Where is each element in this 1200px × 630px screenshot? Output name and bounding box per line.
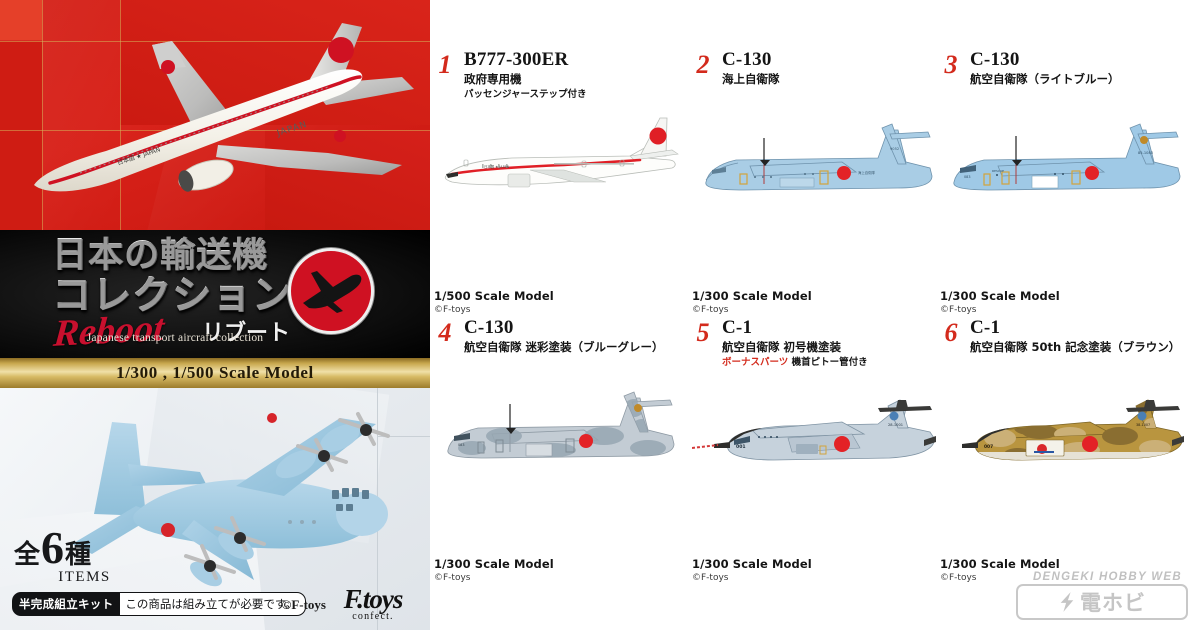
kit-note-label: この商品は組み立てが必要です。 bbox=[120, 592, 305, 616]
item-scale-label: 1/300 Scale Model bbox=[692, 289, 812, 303]
svg-text:083: 083 bbox=[458, 443, 464, 447]
c130-camo-side-view-icon: 083 bbox=[434, 378, 686, 503]
item-header-text: C-1 航空自衛隊 50th 記念塗装（ブラウン） bbox=[970, 318, 1192, 357]
item-model-subtitle: 政府専用機 bbox=[464, 72, 686, 86]
svg-text:9052: 9052 bbox=[890, 147, 899, 151]
svg-text:007: 007 bbox=[984, 444, 993, 450]
lineup-grid: 1 B777-300ER 政府専用機 パッセンジャーステップ付き bbox=[430, 0, 1200, 630]
item-artwork-c1-50th-brown: 007 38-1007 bbox=[940, 378, 1192, 503]
svg-text:083: 083 bbox=[964, 175, 970, 179]
item-model-subtitle: 航空自衛隊（ライトブルー） bbox=[970, 72, 1192, 86]
bottom-photo-c130: 全 6 種 ITEMS 半完成組立キット この商品は組み立てが必要です。 ©F-… bbox=[0, 388, 430, 630]
lineup-item-header: 4 C-130 航空自衛隊 迷彩塗装（ブルーグレー） bbox=[434, 318, 686, 374]
item-scale-label: 1/300 Scale Model bbox=[434, 557, 554, 571]
lineup-item-4[interactable]: 4 C-130 航空自衛隊 迷彩塗装（ブルーグレー） bbox=[434, 318, 686, 583]
ftoys-logo: F.toys confect. bbox=[332, 587, 414, 622]
lineup-item-3[interactable]: 3 C-130 航空自衛隊（ライトブルー） bbox=[940, 50, 1192, 315]
ftoys-copyright: ©F-toys bbox=[282, 597, 326, 613]
item-footer: 1/500 Scale Model ©F-toys bbox=[434, 289, 554, 315]
item-scale-label: 1/500 Scale Model bbox=[434, 289, 554, 303]
item-header-text: C-130 海上自衛隊 bbox=[722, 50, 944, 89]
c130-side-view-icon: 海上自衛隊 9052 bbox=[692, 110, 944, 235]
item-model-note: パッセンジャーステップ付き bbox=[464, 89, 686, 100]
item-artwork-c130-jasdf-lightblue: 083 RESCUE 85-1083 bbox=[940, 110, 1192, 235]
b777-model-photo: 日本国 ★ JAPAN JAPAN bbox=[10, 5, 430, 225]
lineup-item-header: 2 C-130 海上自衛隊 bbox=[692, 50, 944, 106]
item-number: 2 bbox=[692, 52, 714, 78]
item-footer: 1/300 Scale Model ©F-toys bbox=[434, 557, 554, 583]
item-copyright: ©F-toys bbox=[692, 573, 812, 583]
poster-root: 日本国 ★ JAPAN JAPAN 日本の輸送機 コレクション Reboot リ… bbox=[0, 0, 1200, 630]
item-model-subtitle: 航空自衛隊 50th 記念塗装（ブラウン） bbox=[970, 340, 1192, 354]
kit-tag-label: 半完成組立キット bbox=[12, 592, 120, 616]
scale-band: 1/300 , 1/500 Scale Model bbox=[0, 358, 430, 388]
item-copyright: ©F-toys bbox=[940, 305, 1060, 315]
lineup-item-5[interactable]: 5 C-1 航空自衛隊 初号機塗装 ボーナスパーツ 機首ピトー管付き bbox=[692, 318, 944, 583]
item-number: 6 bbox=[940, 320, 962, 346]
lightning-bolt-icon bbox=[1058, 591, 1076, 613]
item-model-name: C-130 bbox=[464, 318, 686, 338]
item-header-text: C-1 航空自衛隊 初号機塗装 ボーナスパーツ 機首ピトー管付き bbox=[722, 318, 944, 369]
plane-silhouette-icon bbox=[291, 251, 371, 331]
item-model-name: C-1 bbox=[970, 318, 1192, 338]
c1-side-view-icon: 001 28-1001 bbox=[692, 378, 944, 503]
item-model-name: C-130 bbox=[722, 50, 944, 70]
watermark-badge: 電ホビ bbox=[1016, 584, 1188, 620]
item-footer: 1/300 Scale Model ©F-toys bbox=[692, 557, 812, 583]
bonus-parts-label: ボーナスパーツ bbox=[722, 357, 788, 368]
assembly-kit-notice: 半完成組立キット この商品は組み立てが必要です。 bbox=[12, 592, 306, 616]
ftoys-logo-main: F.toys bbox=[332, 587, 414, 613]
item-scale-label: 1/300 Scale Model bbox=[940, 557, 1060, 571]
items-count-badge: 全 6 種 ITEMS bbox=[14, 525, 214, 586]
items-number: 6 bbox=[41, 525, 64, 571]
items-prefix: 全 bbox=[14, 542, 40, 568]
item-artwork-c1-prototype: 001 28-1001 bbox=[692, 378, 944, 503]
item-copyright: ©F-toys bbox=[692, 305, 812, 315]
item-model-name: C-1 bbox=[722, 318, 944, 338]
item-scale-label: 1/300 Scale Model bbox=[940, 289, 1060, 303]
lineup-item-header: 6 C-1 航空自衛隊 50th 記念塗装（ブラウン） bbox=[940, 318, 1192, 374]
svg-text:28-1001: 28-1001 bbox=[888, 423, 903, 427]
svg-text:85-1083: 85-1083 bbox=[1138, 151, 1153, 155]
svg-text:JAPAN: JAPAN bbox=[275, 120, 309, 140]
bonus-parts-note: 機首ピトー管付き bbox=[792, 357, 868, 368]
svg-text:RESCUE: RESCUE bbox=[992, 169, 1004, 173]
left-promo-panel: 日本国 ★ JAPAN JAPAN 日本の輸送機 コレクション Reboot リ… bbox=[0, 0, 430, 630]
lineup-item-header: 1 B777-300ER 政府専用機 パッセンジャーステップ付き bbox=[434, 50, 686, 106]
item-footer: 1/300 Scale Model ©F-toys bbox=[940, 289, 1060, 315]
item-footer: 1/300 Scale Model ©F-toys bbox=[692, 289, 812, 315]
item-artwork-c130-jmsdf: 海上自衛隊 9052 bbox=[692, 110, 944, 235]
lineup-item-6[interactable]: 6 C-1 航空自衛隊 50th 記念塗装（ブラウン） bbox=[940, 318, 1192, 583]
item-model-note: ボーナスパーツ 機首ピトー管付き bbox=[722, 357, 944, 368]
item-model-subtitle: 航空自衛隊 初号機塗装 bbox=[722, 340, 944, 354]
aircraft-emblem-icon bbox=[288, 248, 374, 334]
svg-text:38-1007: 38-1007 bbox=[1136, 423, 1150, 427]
item-artwork-c130-camo: 083 bbox=[434, 378, 686, 503]
svg-text:日本国 ★ JAPAN: 日本国 ★ JAPAN bbox=[484, 164, 510, 169]
item-copyright: ©F-toys bbox=[434, 573, 554, 583]
c1-brown-side-view-icon: 007 38-1007 bbox=[940, 378, 1192, 503]
item-model-name: B777-300ER bbox=[464, 50, 686, 70]
product-title-band: 日本の輸送機 コレクション Reboot リブート Japanese trans… bbox=[0, 230, 430, 358]
lineup-item-header: 3 C-130 航空自衛隊（ライトブルー） bbox=[940, 50, 1192, 106]
svg-text:海上自衛隊: 海上自衛隊 bbox=[858, 170, 876, 175]
title-subtitle-en: Japanese transport aircraft collection bbox=[40, 332, 310, 344]
site-watermark: DENGEKI HOBBY WEB 電ホビ bbox=[1016, 571, 1188, 620]
lineup-item-1[interactable]: 1 B777-300ER 政府専用機 パッセンジャーステップ付き bbox=[434, 50, 686, 315]
item-model-name: C-130 bbox=[970, 50, 1192, 70]
items-suffix: 種 bbox=[65, 542, 91, 568]
b777-side-view-icon: 日本国 ★ JAPAN bbox=[434, 110, 686, 235]
hero-photo-b777: 日本国 ★ JAPAN JAPAN bbox=[0, 0, 430, 230]
item-model-subtitle: 海上自衛隊 bbox=[722, 72, 944, 86]
item-copyright: ©F-toys bbox=[434, 305, 554, 315]
lineup-item-2[interactable]: 2 C-130 海上自衛隊 bbox=[692, 50, 944, 315]
item-artwork-b777: 日本国 ★ JAPAN bbox=[434, 110, 686, 235]
item-scale-label: 1/300 Scale Model bbox=[692, 557, 812, 571]
item-number: 4 bbox=[434, 320, 456, 346]
items-count-jp: 全 6 種 bbox=[14, 525, 214, 571]
svg-text:001: 001 bbox=[736, 444, 746, 450]
lineup-panel: 1 B777-300ER 政府専用機 パッセンジャーステップ付き bbox=[430, 0, 1200, 630]
c130-side-view-icon: 083 RESCUE 85-1083 bbox=[940, 110, 1192, 235]
item-header-text: B777-300ER 政府専用機 パッセンジャーステップ付き bbox=[464, 50, 686, 101]
item-header-text: C-130 航空自衛隊（ライトブルー） bbox=[970, 50, 1192, 89]
scale-band-text: 1/300 , 1/500 Scale Model bbox=[116, 363, 314, 383]
item-header-text: C-130 航空自衛隊 迷彩塗装（ブルーグレー） bbox=[464, 318, 686, 357]
watermark-en-text: DENGEKI HOBBY WEB bbox=[1016, 571, 1188, 583]
watermark-jp-text: 電ホビ bbox=[1080, 587, 1146, 617]
item-number: 3 bbox=[940, 52, 962, 78]
item-number: 1 bbox=[434, 52, 456, 78]
lineup-item-header: 5 C-1 航空自衛隊 初号機塗装 ボーナスパーツ 機首ピトー管付き bbox=[692, 318, 944, 374]
item-number: 5 bbox=[692, 320, 714, 346]
item-model-subtitle: 航空自衛隊 迷彩塗装（ブルーグレー） bbox=[464, 340, 686, 354]
